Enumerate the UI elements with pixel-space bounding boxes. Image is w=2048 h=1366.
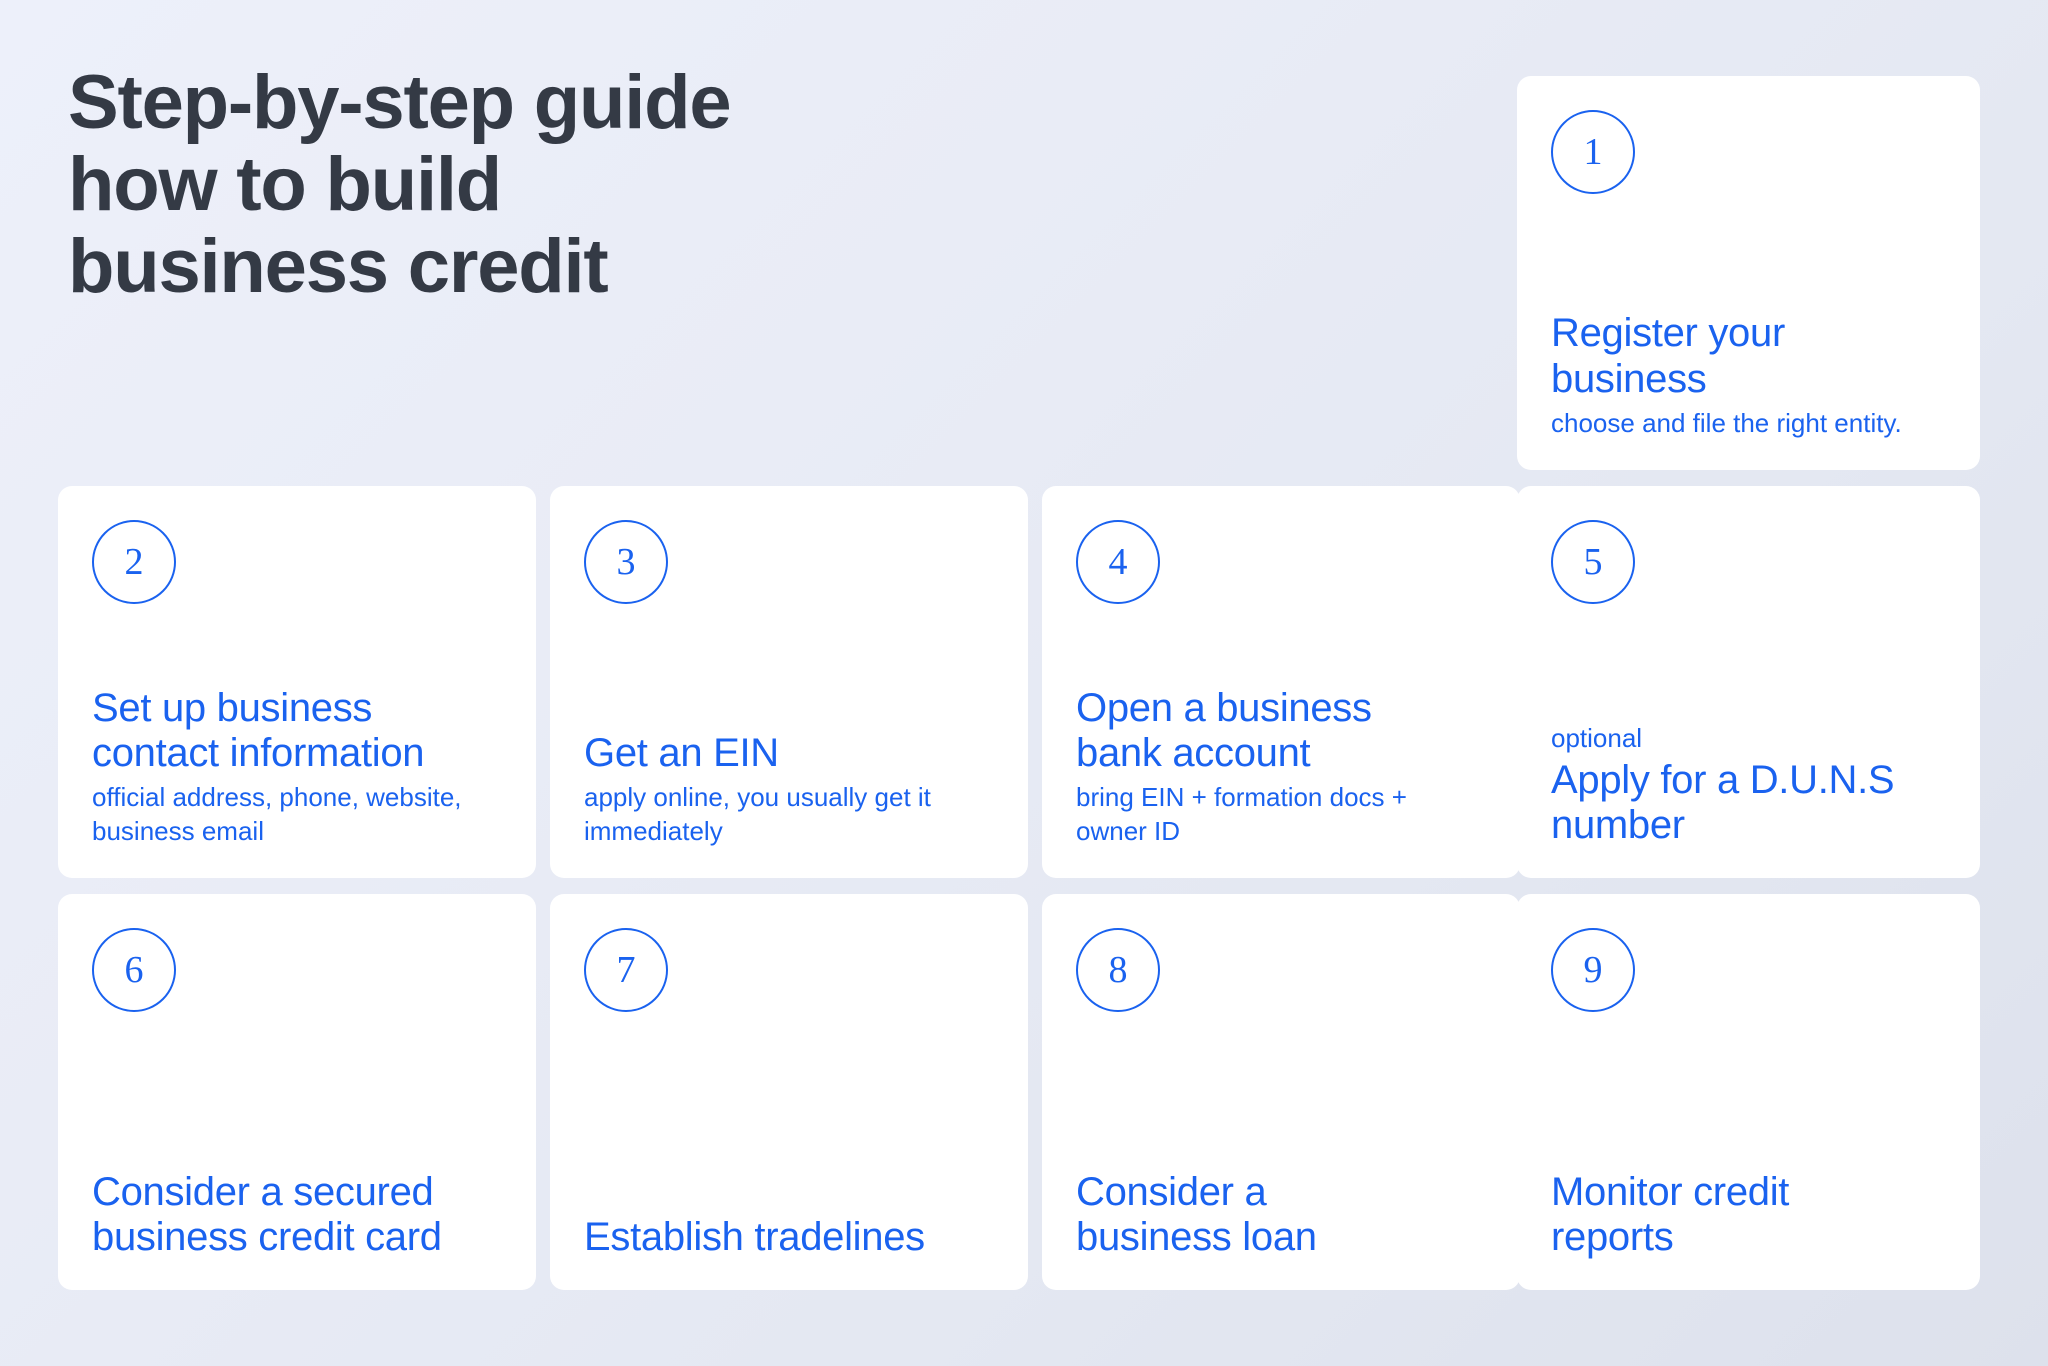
step-card-1-text: Register your business choose and file t… [1551,311,1946,440]
step-card-6[interactable]: 6 Consider a secured business credit car… [58,894,536,1290]
step-title-6: Consider a secured business credit card [92,1170,502,1260]
step-number-badge-9: 9 [1551,928,1635,1012]
step-subtitle-1: choose and file the right entity. [1551,407,1946,440]
step-card-4[interactable]: 4 Open a business bank account bring EIN… [1042,486,1520,878]
step-number-5: 5 [1584,543,1603,581]
step-card-9[interactable]: 9 Monitor credit reports [1517,894,1980,1290]
step-number-badge-4: 4 [1076,520,1160,604]
step-card-3-content: 3 Get an EIN apply online, you usually g… [550,486,1028,878]
step-card-7-text: Establish tradelines [584,1215,994,1260]
page-title: Step-by-step guide how to build business… [68,62,1128,308]
step-number-9: 9 [1584,951,1603,989]
spacer [92,604,502,686]
step-card-8-content: 8 Consider a business loan [1042,894,1520,1290]
step-card-6-content: 6 Consider a secured business credit car… [58,894,536,1290]
step-title-3: Get an EIN [584,731,994,776]
step-number-badge-5: 5 [1551,520,1635,604]
step-card-9-text: Monitor credit reports [1551,1170,1946,1260]
step-number-badge-8: 8 [1076,928,1160,1012]
step-card-5-content: 5 optional Apply for a D.U.N.S number [1517,486,1980,878]
step-subtitle-2: official address, phone, website, busine… [92,781,502,848]
step-card-6-text: Consider a secured business credit card [92,1170,502,1260]
step-title-5: Apply for a D.U.N.S number [1551,758,1946,848]
step-subtitle-4: bring EIN + formation docs + owner ID [1076,781,1486,848]
step-card-2[interactable]: 2 Set up business contact information of… [58,486,536,878]
spacer [584,604,994,731]
step-card-8-text: Consider a business loan [1076,1170,1486,1260]
step-card-5[interactable]: 5 optional Apply for a D.U.N.S number [1517,486,1980,878]
spacer [92,1012,502,1170]
step-number-4: 4 [1109,543,1128,581]
step-card-1[interactable]: 1 Register your business choose and file… [1517,76,1980,470]
spacer [584,1012,994,1215]
step-title-7: Establish tradelines [584,1215,994,1260]
step-card-2-content: 2 Set up business contact information of… [58,486,536,878]
step-card-3[interactable]: 3 Get an EIN apply online, you usually g… [550,486,1028,878]
step-card-2-text: Set up business contact information offi… [92,686,502,848]
step-card-4-content: 4 Open a business bank account bring EIN… [1042,486,1520,878]
step-card-1-content: 1 Register your business choose and file… [1517,76,1980,470]
infographic-canvas: Step-by-step guide how to build business… [0,0,2048,1366]
step-number-badge-3: 3 [584,520,668,604]
step-card-7[interactable]: 7 Establish tradelines [550,894,1028,1290]
step-title-2: Set up business contact information [92,686,502,776]
step-title-9: Monitor credit reports [1551,1170,1946,1260]
step-number-badge-1: 1 [1551,110,1635,194]
spacer [1551,1012,1946,1170]
step-card-7-content: 7 Establish tradelines [550,894,1028,1290]
step-number-7: 7 [617,951,636,989]
step-number-badge-7: 7 [584,928,668,1012]
step-number-6: 6 [125,951,144,989]
step-number-badge-2: 2 [92,520,176,604]
spacer [1551,194,1946,311]
spacer [1076,1012,1486,1170]
spacer [1551,604,1946,722]
step-card-5-text: optional Apply for a D.U.N.S number [1551,722,1946,848]
step-card-4-text: Open a business bank account bring EIN +… [1076,686,1486,848]
step-number-1: 1 [1584,133,1603,171]
step-card-9-content: 9 Monitor credit reports [1517,894,1980,1290]
spacer [1076,604,1486,686]
step-eyebrow-5: optional [1551,722,1946,755]
step-card-8[interactable]: 8 Consider a business loan [1042,894,1520,1290]
step-card-3-text: Get an EIN apply online, you usually get… [584,731,994,848]
step-number-8: 8 [1109,951,1128,989]
step-number-2: 2 [125,543,144,581]
step-subtitle-3: apply online, you usually get it immedia… [584,781,994,848]
step-number-badge-6: 6 [92,928,176,1012]
step-title-8: Consider a business loan [1076,1170,1486,1260]
step-title-1: Register your business [1551,311,1946,401]
step-title-4: Open a business bank account [1076,686,1486,776]
step-number-3: 3 [617,543,636,581]
